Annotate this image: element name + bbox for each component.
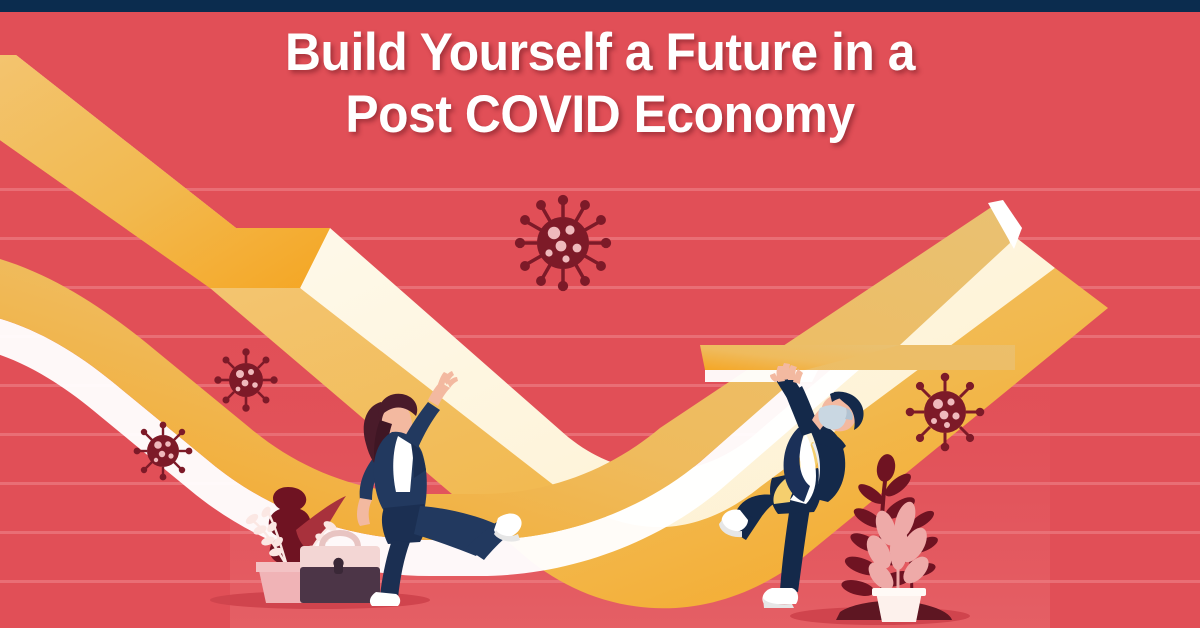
people-illustration: [0, 0, 1200, 628]
man-lifting-arrow: [719, 363, 864, 608]
banner-graphic: Build Yourself a Future in a Post COVID …: [0, 0, 1200, 628]
top-accent-bar: [0, 0, 1200, 12]
woman-reaching-up: [357, 371, 522, 606]
